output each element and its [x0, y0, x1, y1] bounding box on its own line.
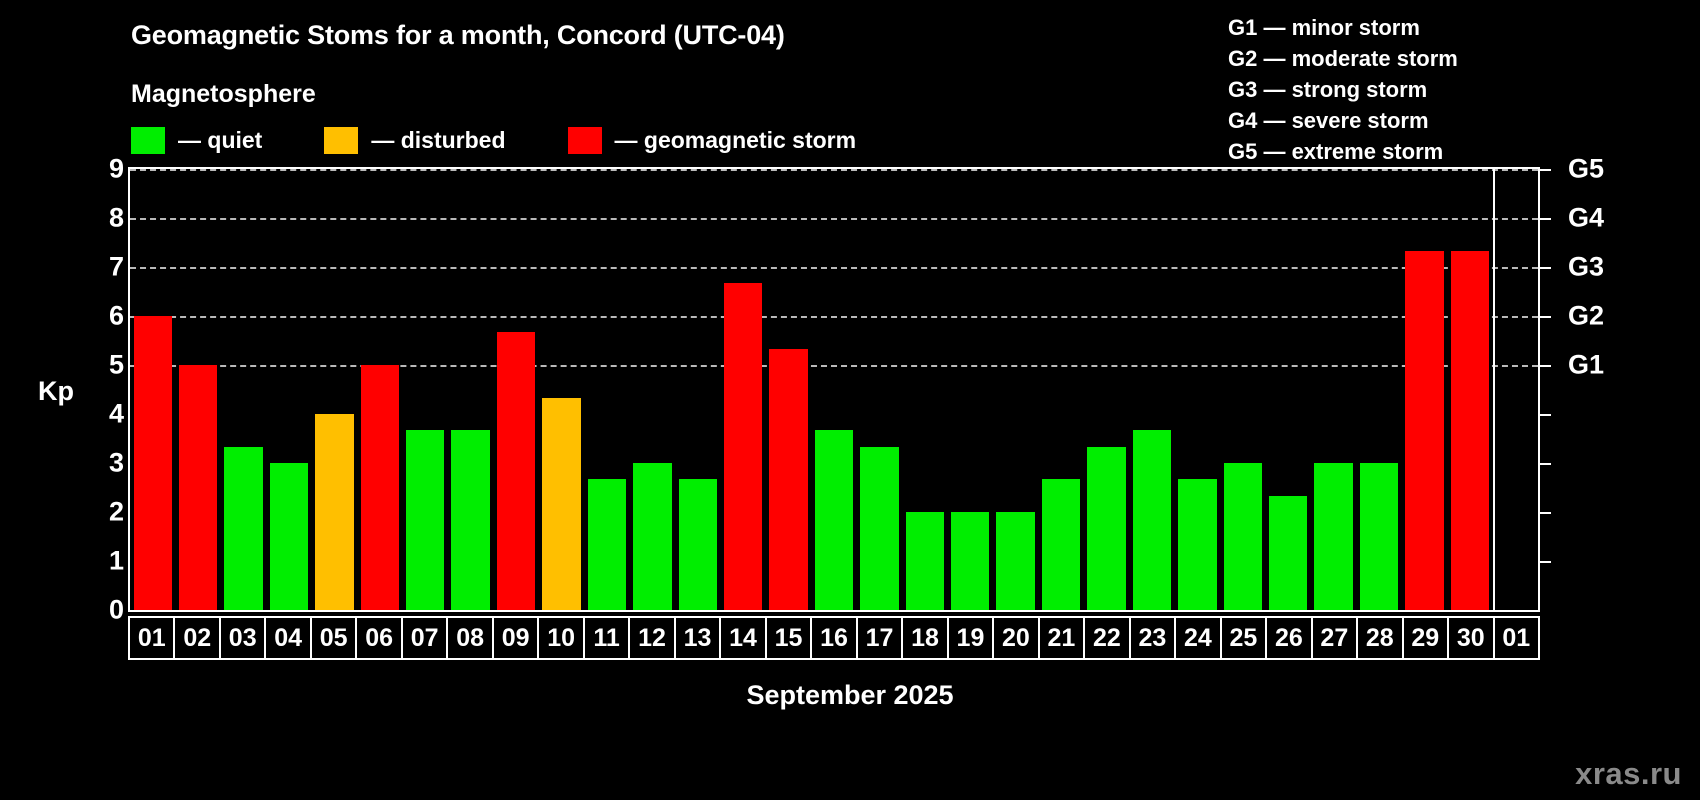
x-axis-day-cell: 15	[767, 618, 812, 658]
x-axis-day-cell: 21	[1040, 618, 1085, 658]
x-axis-day-cell: 01	[130, 618, 175, 658]
x-axis-day-cell: 30	[1449, 618, 1494, 658]
bar-day-26	[1269, 496, 1307, 610]
g-tick-mark-G4	[1540, 218, 1551, 220]
bar-day-07	[406, 430, 444, 610]
gscale-legend-line-2: G2 — moderate storm	[1228, 43, 1458, 74]
bar-day-14	[724, 283, 762, 610]
g-tick-label-G1: G1	[1568, 350, 1604, 381]
bar-day-03	[224, 447, 262, 610]
x-axis-day-cell: 01	[1495, 618, 1538, 658]
magnetosphere-legend: — quiet— disturbed— geomagnetic storm	[131, 125, 856, 155]
bar-day-18	[906, 512, 944, 610]
x-axis-day-cell: 10	[539, 618, 584, 658]
y-tick-label-2: 2	[84, 497, 124, 528]
bar-day-05	[315, 414, 353, 610]
x-axis-day-cell: 07	[403, 618, 448, 658]
bar-day-15	[769, 349, 807, 610]
y-tick-label-7: 7	[84, 252, 124, 283]
bar-day-23	[1133, 430, 1171, 610]
g-tick-mark-G5	[1540, 169, 1551, 171]
bars-layer	[130, 169, 1538, 610]
g-tick-mark-G1	[1540, 365, 1551, 367]
bar-day-16	[815, 430, 853, 610]
x-axis-title: September 2025	[0, 680, 1700, 711]
month-boundary-divider	[1493, 169, 1495, 610]
legend-heading: Magnetosphere	[131, 80, 316, 109]
g-scale-axis: G1G2G3G4G5	[1540, 167, 1690, 612]
x-axis-day-cell: 11	[585, 618, 630, 658]
bar-day-21	[1042, 479, 1080, 610]
bar-day-01	[134, 316, 172, 610]
bar-day-28	[1360, 463, 1398, 610]
x-axis-day-cell: 25	[1222, 618, 1267, 658]
geomagnetic-storm-chart: Geomagnetic Stoms for a month, Concord (…	[0, 0, 1700, 800]
bar-day-17	[860, 447, 898, 610]
watermark: xras.ru	[1575, 756, 1682, 792]
gscale-legend-line-4: G4 — severe storm	[1228, 105, 1458, 136]
legend-item-disturbed: — disturbed	[324, 125, 505, 155]
legend-label-quiet: — quiet	[178, 127, 262, 154]
gscale-legend-line-3: G3 — strong storm	[1228, 74, 1458, 105]
x-axis-day-cell: 20	[994, 618, 1039, 658]
g-tick-label-G5: G5	[1568, 154, 1604, 185]
bar-day-11	[588, 479, 626, 610]
bar-day-04	[270, 463, 308, 610]
x-axis-day-cell: 16	[812, 618, 857, 658]
bar-day-10	[542, 398, 580, 610]
bar-day-06	[361, 365, 399, 610]
legend-swatch-storm	[568, 127, 602, 154]
legend-item-storm: — geomagnetic storm	[568, 125, 857, 155]
x-axis-day-cell: 28	[1358, 618, 1403, 658]
y-axis-label: Kp	[38, 376, 74, 407]
x-axis-day-cell: 13	[676, 618, 721, 658]
x-axis-day-cell: 29	[1404, 618, 1449, 658]
x-axis-day-cell: 22	[1085, 618, 1130, 658]
x-axis-day-cell: 17	[858, 618, 903, 658]
bar-day-13	[679, 479, 717, 610]
legend-label-disturbed: — disturbed	[371, 127, 505, 154]
x-axis-day-cell: 05	[312, 618, 357, 658]
bar-day-25	[1224, 463, 1262, 610]
legend-swatch-quiet	[131, 127, 165, 154]
plot-inner	[130, 169, 1538, 610]
x-axis-day-cell: 18	[903, 618, 948, 658]
y-tick-label-4: 4	[84, 399, 124, 430]
x-axis-day-cell: 24	[1176, 618, 1221, 658]
x-axis-day-cell: 27	[1313, 618, 1358, 658]
g-axis-minor-mark-1	[1540, 561, 1551, 563]
gscale-legend-line-5: G5 — extreme storm	[1228, 136, 1458, 167]
x-axis-day-cell: 19	[949, 618, 994, 658]
x-axis-day-cell: 12	[630, 618, 675, 658]
x-axis-day-cell: 08	[448, 618, 493, 658]
legend-item-quiet: — quiet	[131, 125, 262, 155]
y-tick-label-0: 0	[84, 595, 124, 626]
legend-swatch-disturbed	[324, 127, 358, 154]
g-axis-minor-mark-2	[1540, 512, 1551, 514]
y-tick-label-9: 9	[84, 154, 124, 185]
y-tick-label-6: 6	[84, 301, 124, 332]
bar-day-29	[1405, 251, 1443, 610]
bar-day-27	[1314, 463, 1352, 610]
bar-day-30	[1451, 251, 1489, 610]
y-tick-label-8: 8	[84, 203, 124, 234]
page-title: Geomagnetic Stoms for a month, Concord (…	[131, 20, 785, 51]
gscale-legend-line-1: G1 — minor storm	[1228, 12, 1458, 43]
bar-day-24	[1178, 479, 1216, 610]
x-axis-day-cell: 26	[1267, 618, 1312, 658]
x-axis-day-cell: 09	[494, 618, 539, 658]
plot-area	[128, 167, 1540, 612]
bar-day-09	[497, 332, 535, 610]
g-tick-mark-G2	[1540, 316, 1551, 318]
x-axis-days: 0102030405060708091011121314151617181920…	[128, 616, 1540, 660]
y-tick-label-1: 1	[84, 546, 124, 577]
bar-day-22	[1087, 447, 1125, 610]
bar-day-19	[951, 512, 989, 610]
g-tick-mark-G3	[1540, 267, 1551, 269]
bar-day-12	[633, 463, 671, 610]
g-axis-minor-mark-4	[1540, 414, 1551, 416]
legend-label-storm: — geomagnetic storm	[615, 127, 857, 154]
g-tick-label-G2: G2	[1568, 301, 1604, 332]
gscale-legend: G1 — minor stormG2 — moderate stormG3 — …	[1228, 12, 1458, 167]
x-axis-day-cell: 06	[357, 618, 402, 658]
g-tick-label-G3: G3	[1568, 252, 1604, 283]
g-axis-minor-mark-3	[1540, 463, 1551, 465]
bar-day-08	[451, 430, 489, 610]
x-axis-day-cell: 02	[175, 618, 220, 658]
bar-day-20	[996, 512, 1034, 610]
g-tick-label-G4: G4	[1568, 203, 1604, 234]
y-tick-label-5: 5	[84, 350, 124, 381]
x-axis-day-cell: 04	[266, 618, 311, 658]
x-axis-day-cell: 23	[1131, 618, 1176, 658]
x-axis-day-cell: 14	[721, 618, 766, 658]
x-axis-day-cell: 03	[221, 618, 266, 658]
bar-day-02	[179, 365, 217, 610]
y-axis-ticks: 0123456789	[78, 167, 124, 612]
y-tick-label-3: 3	[84, 448, 124, 479]
